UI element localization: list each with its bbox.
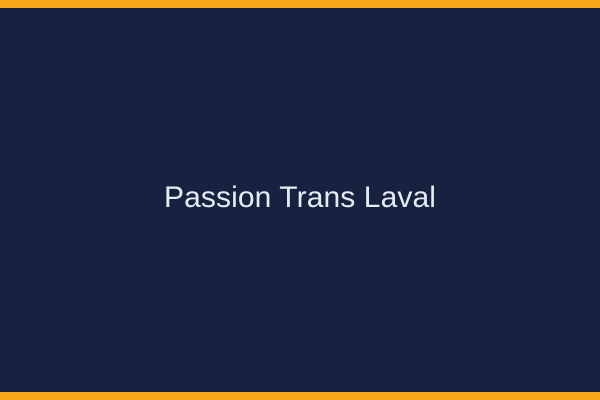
placeholder-banner: Passion Trans Laval [0, 0, 600, 400]
banner-title: Passion Trans Laval [164, 183, 436, 213]
bottom-accent-bar [0, 392, 600, 400]
top-accent-bar [0, 0, 600, 8]
banner-body: Passion Trans Laval [0, 8, 600, 392]
